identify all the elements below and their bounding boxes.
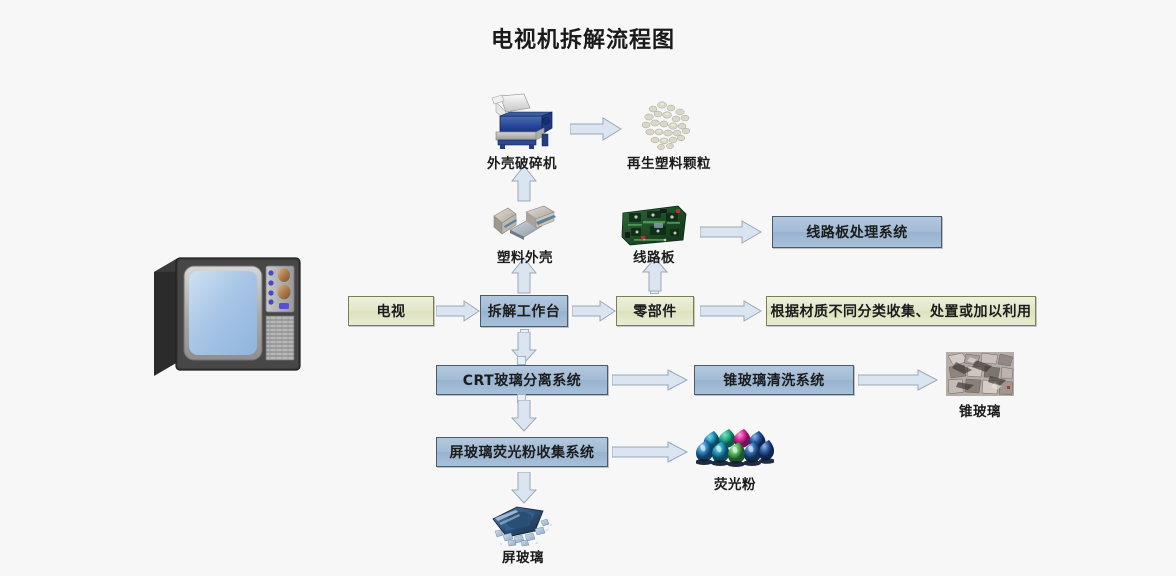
node-components[interactable]: 零部件 [616, 296, 694, 326]
circuit-board-caption: 线路板 [614, 246, 694, 266]
arrow-circuit-board-to-pcb-system [700, 220, 762, 244]
phosphor-powder-image [696, 428, 774, 470]
node-crt-glass-separation-system[interactable]: CRT玻璃分离系统 [436, 365, 608, 395]
plastic-pellets-caption-text: 再生塑料颗粒 [627, 156, 711, 172]
crt-separation-top-handle[interactable] [517, 356, 526, 365]
node-phosphor-collection-system[interactable]: 屏玻璃荧光粉收集系统 [436, 437, 608, 467]
plastic-pellets-image [637, 97, 699, 151]
node-pcb-processing-system-label: 线路板处理系统 [806, 222, 908, 242]
node-cone-glass-washing-system[interactable]: 锥玻璃清洗系统 [694, 365, 854, 395]
node-tv-label: 电视 [377, 301, 406, 321]
panel-glass-image [489, 505, 557, 547]
page-title: 电视机拆解流程图 [0, 22, 1176, 54]
arrow-crt-separation-to-cone-wash [612, 369, 688, 391]
flowchart-canvas: 电视机拆解流程图 [0, 0, 1176, 576]
node-phosphor-collection-system-label: 屏玻璃荧光粉收集系统 [450, 442, 595, 462]
arrow-crusher-to-pellets [570, 117, 622, 141]
shell-crusher-image [486, 92, 558, 150]
page-title-text: 电视机拆解流程图 [491, 22, 675, 54]
circuit-board-image [620, 204, 688, 246]
panel-glass-caption-text: 屏玻璃 [502, 550, 544, 566]
node-crt-glass-separation-system-label: CRT玻璃分离系统 [463, 370, 581, 390]
node-dismantling-workbench[interactable]: 拆解工作台 [480, 295, 568, 327]
phosphor-powder-caption: 荧光粉 [685, 473, 785, 493]
node-components-label: 零部件 [633, 301, 677, 321]
panel-glass-caption: 屏玻璃 [473, 546, 573, 566]
plastic-shell-image [492, 204, 558, 242]
arrow-cone-wash-to-cone-glass [858, 369, 938, 391]
circuit-board-caption-text: 线路板 [633, 250, 675, 266]
cone-glass-caption: 锥玻璃 [930, 400, 1030, 420]
plastic-shell-caption: 塑料外壳 [465, 246, 585, 266]
arrow-tv-to-workbench [436, 300, 480, 322]
tv-set-image [148, 250, 308, 378]
arrow-phosphor-collection-to-powder [612, 441, 688, 463]
shell-crusher-caption-text: 外壳破碎机 [487, 156, 557, 172]
arrow-workbench-to-parts [572, 300, 616, 322]
node-cone-glass-washing-system-label: 锥玻璃清洗系统 [723, 370, 825, 390]
plastic-pellets-caption: 再生塑料颗粒 [608, 152, 730, 172]
plastic-shell-caption-text: 塑料外壳 [497, 250, 553, 266]
arrow-crt-separation-to-phosphor-collection [511, 400, 537, 432]
shell-crusher-caption: 外壳破碎机 [462, 152, 582, 172]
arrow-phosphor-collection-to-panel-glass [511, 472, 537, 504]
node-sort-and-reuse-label: 根据材质不同分类收集、处置或加以利用 [771, 301, 1032, 321]
node-dismantling-workbench-label: 拆解工作台 [488, 301, 561, 321]
node-sort-and-reuse[interactable]: 根据材质不同分类收集、处置或加以利用 [766, 296, 1036, 326]
node-tv[interactable]: 电视 [348, 296, 434, 326]
cone-glass-caption-text: 锥玻璃 [959, 404, 1001, 420]
cone-glass-image [946, 352, 1014, 396]
phosphor-powder-caption-text: 荧光粉 [714, 477, 756, 493]
node-pcb-processing-system[interactable]: 线路板处理系统 [772, 216, 942, 248]
arrow-parts-to-sorting [700, 300, 762, 322]
